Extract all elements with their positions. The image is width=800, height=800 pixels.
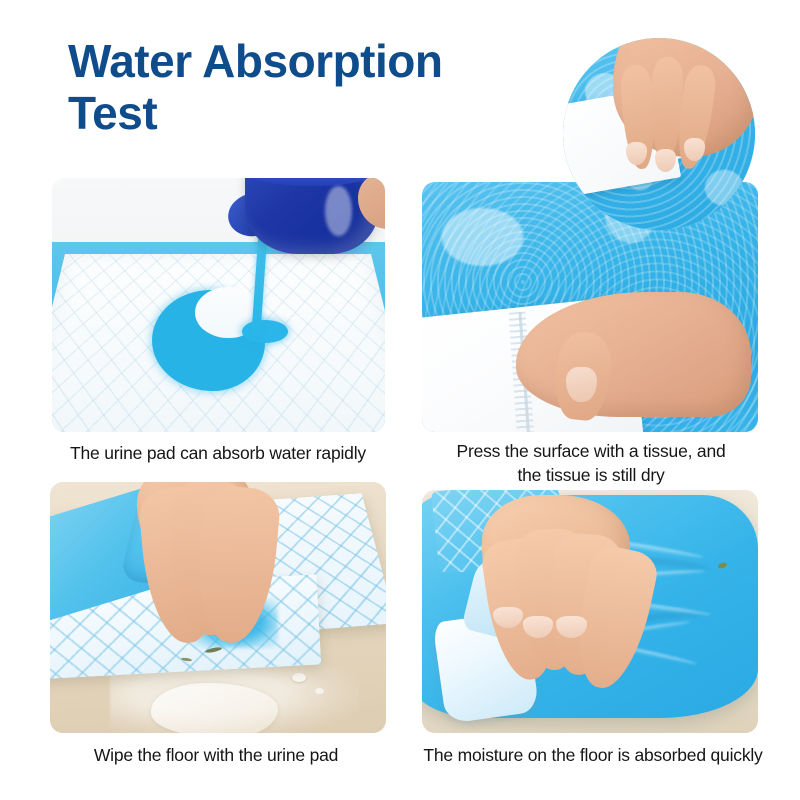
infographic-page: Water Absorption Test [0,0,800,800]
page-title: Water Absorption Test [68,36,538,140]
panel-1-scene [52,178,385,432]
panel-3-scene [50,482,386,733]
caption-panel-3: Wipe the floor with the urine pad [36,744,396,768]
panel-floor-wipe-image [50,482,386,733]
caption-panel-1: The urine pad can absorb water rapidly [38,442,398,466]
panel-4-scene [422,490,758,733]
water-puddle [151,683,279,733]
panel-moisture-absorbed-image [422,490,758,733]
water-droplet-1 [292,673,306,682]
panel-water-pour-image [52,178,385,432]
caption-panel-4: The moisture on the floor is absorbed qu… [398,744,788,768]
caption-panel-2: Press the surface with a tissue, and the… [420,440,762,488]
closeup-circle-inset [563,38,755,230]
thumbnail [566,367,596,402]
pitcher-highlight [325,186,352,237]
